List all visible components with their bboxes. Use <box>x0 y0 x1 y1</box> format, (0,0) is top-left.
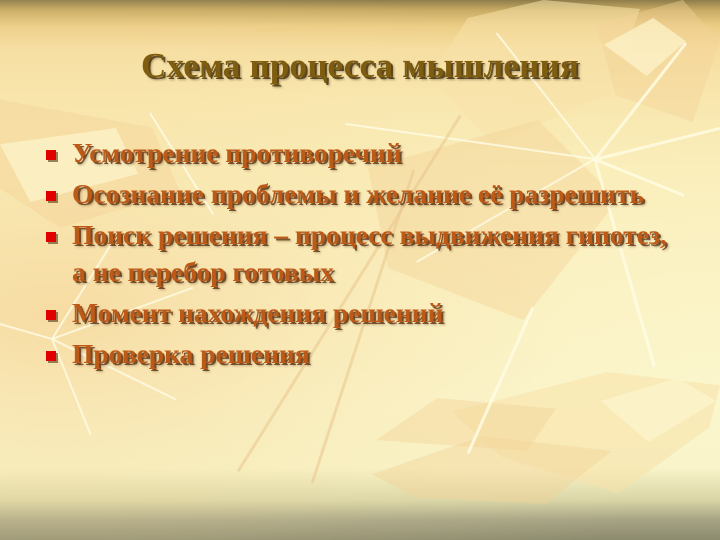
list-item: Поиск решения – процесс выдвижения гипот… <box>44 216 674 290</box>
bullet-list: Усмотрение противоречий Осознание пробле… <box>44 134 674 376</box>
list-item-label: Осознание проблемы и желание её разрешит… <box>72 175 674 212</box>
list-item-label: Момент нахождения решений <box>72 294 674 331</box>
red-square-bullet-icon <box>46 191 56 201</box>
red-square-bullet-icon <box>46 351 56 361</box>
red-square-bullet-icon <box>46 310 56 320</box>
red-square-bullet-icon <box>46 150 56 160</box>
list-item: Усмотрение противоречий <box>44 134 674 171</box>
list-item: Проверка решения <box>44 335 674 372</box>
list-item: Осознание проблемы и желание её разрешит… <box>44 175 674 212</box>
slide-title: Схема процесса мышления <box>0 44 720 88</box>
red-square-bullet-icon <box>46 232 56 242</box>
list-item-label: Поиск решения – процесс выдвижения гипот… <box>72 216 674 290</box>
list-item-label: Проверка решения <box>72 335 674 372</box>
list-item: Момент нахождения решений <box>44 294 674 331</box>
list-item-label: Усмотрение противоречий <box>72 134 674 171</box>
presentation-slide: Схема процесса мышления Усмотрение проти… <box>0 0 720 540</box>
